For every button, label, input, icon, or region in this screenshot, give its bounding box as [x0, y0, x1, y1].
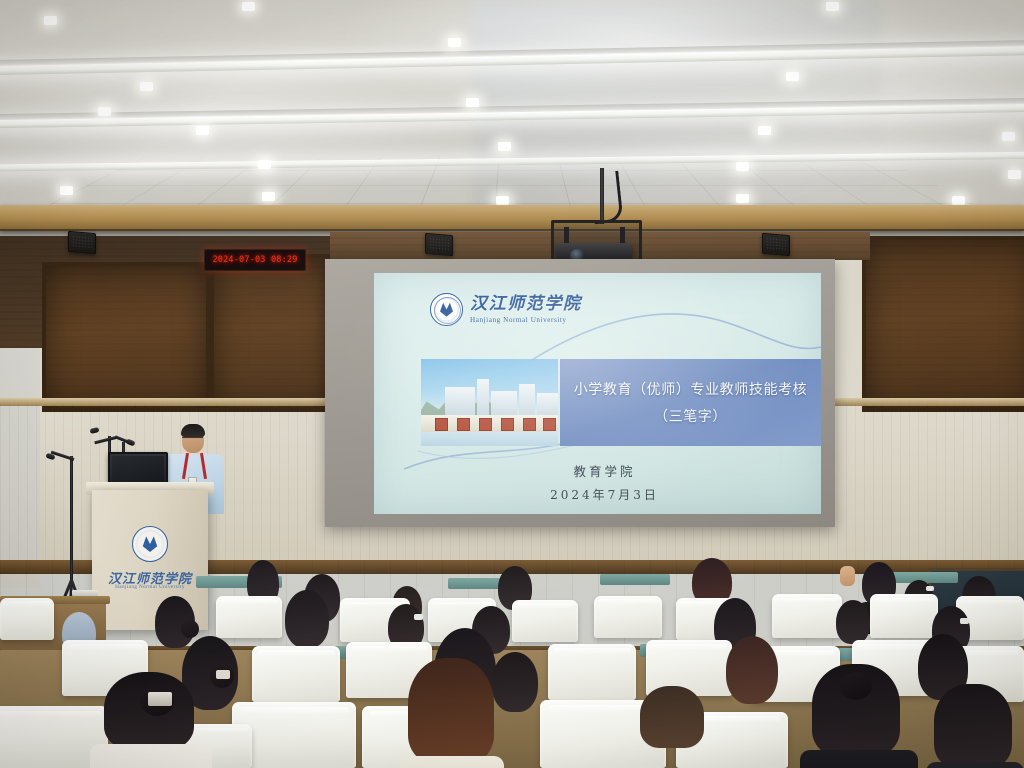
ceiling-soffit-trim [0, 205, 1024, 231]
ceiling-downlight [140, 82, 153, 91]
ceiling-downlight [1002, 132, 1015, 141]
ceiling-downlight [196, 126, 209, 135]
raised-hand-icon [840, 566, 855, 586]
ceiling-downlight [242, 2, 255, 11]
slide-title-line-1: 小学教育（优师）专业教师技能考核 [574, 379, 808, 399]
wall-wood-panel [42, 262, 210, 412]
ceiling-downlight [496, 196, 509, 205]
photo-building [477, 379, 489, 417]
lecture-hall-photo: 2024-07-03 08:29 汉江师范学院 Hanjiang Normal … [0, 0, 1024, 768]
auditorium-seat [870, 594, 938, 638]
auditorium-seat [594, 596, 662, 638]
auditorium-seat [772, 594, 842, 638]
projection-screen: 汉江师范学院 Hanjiang Normal University [374, 273, 821, 514]
ceiling [0, 0, 1024, 215]
ceiling-downlight [448, 38, 461, 47]
auditorium-seat [0, 598, 54, 640]
ceiling-downlight [262, 192, 275, 201]
led-clock-text: 2024-07-03 08:29 [212, 255, 297, 265]
slide-organizer: 教育学院 [573, 461, 635, 480]
glasses-icon [182, 437, 203, 443]
presenter-hair [181, 424, 205, 437]
photo-sign-plaque [501, 418, 514, 431]
podium-institution-name-en: Hanjiang Normal University [115, 584, 185, 590]
slide-date: 2024年7月3日 [550, 486, 659, 503]
projection-screen-frame: 汉江师范学院 Hanjiang Normal University [325, 259, 835, 527]
podium-university-emblem-icon [132, 526, 168, 562]
ceiling-downlight [60, 186, 73, 195]
photo-sign-plaque [479, 418, 492, 431]
photo-building [537, 393, 558, 417]
wall-wood-panel [210, 254, 340, 412]
slide-institution-name-en: Hanjiang Normal University [470, 316, 582, 324]
ceiling-downlight [466, 98, 479, 107]
photo-building [491, 391, 517, 417]
projector-cable [589, 171, 623, 225]
ceiling-downlight [736, 194, 749, 203]
ceiling-downlight [98, 107, 111, 116]
photo-sign-plaque [543, 418, 556, 431]
photo-water [421, 432, 558, 446]
led-wall-clock: 2024-07-03 08:29 [204, 249, 306, 271]
wall-wood-panel-right [862, 236, 1024, 412]
wall-speaker-left [68, 231, 96, 254]
photo-sign-plaque [435, 418, 448, 431]
ceiling-downlight [1008, 170, 1021, 179]
photo-sign-plaque [523, 418, 536, 431]
slide-footer: 教育学院 2024年7月3日 [374, 461, 821, 503]
photo-sign-plaque [457, 418, 470, 431]
university-emblem-icon [430, 293, 463, 326]
photo-building [445, 387, 475, 417]
paper-stack [72, 590, 98, 596]
ceiling-downlight [736, 162, 749, 171]
slide-campus-photo [421, 359, 558, 446]
ceiling-downlight [786, 72, 799, 81]
slide-university-logo: 汉江师范学院 Hanjiang Normal University [430, 293, 582, 326]
ceiling-downlight [952, 196, 965, 205]
auditorium-seat [252, 646, 340, 702]
auditorium-seat [548, 644, 636, 700]
ceiling-downlight [44, 16, 57, 25]
slide-institution-name-cn: 汉江师范学院 [470, 296, 582, 313]
ceiling-downlight [258, 160, 271, 169]
ceiling-downlight [758, 126, 771, 135]
wall-speaker-center [425, 233, 453, 256]
ceiling-downlight [498, 142, 511, 151]
slide-title-band: 小学教育（优师）专业教师技能考核 （三笔字） [560, 359, 821, 446]
desk-top [600, 574, 670, 585]
slide-title-line-2: （三笔字） [654, 406, 727, 426]
ceiling-downlight [826, 2, 839, 11]
auditorium-seat [512, 600, 578, 642]
photo-building [519, 384, 535, 417]
wall-speaker-right [762, 233, 790, 256]
auditorium-seat [216, 596, 282, 638]
